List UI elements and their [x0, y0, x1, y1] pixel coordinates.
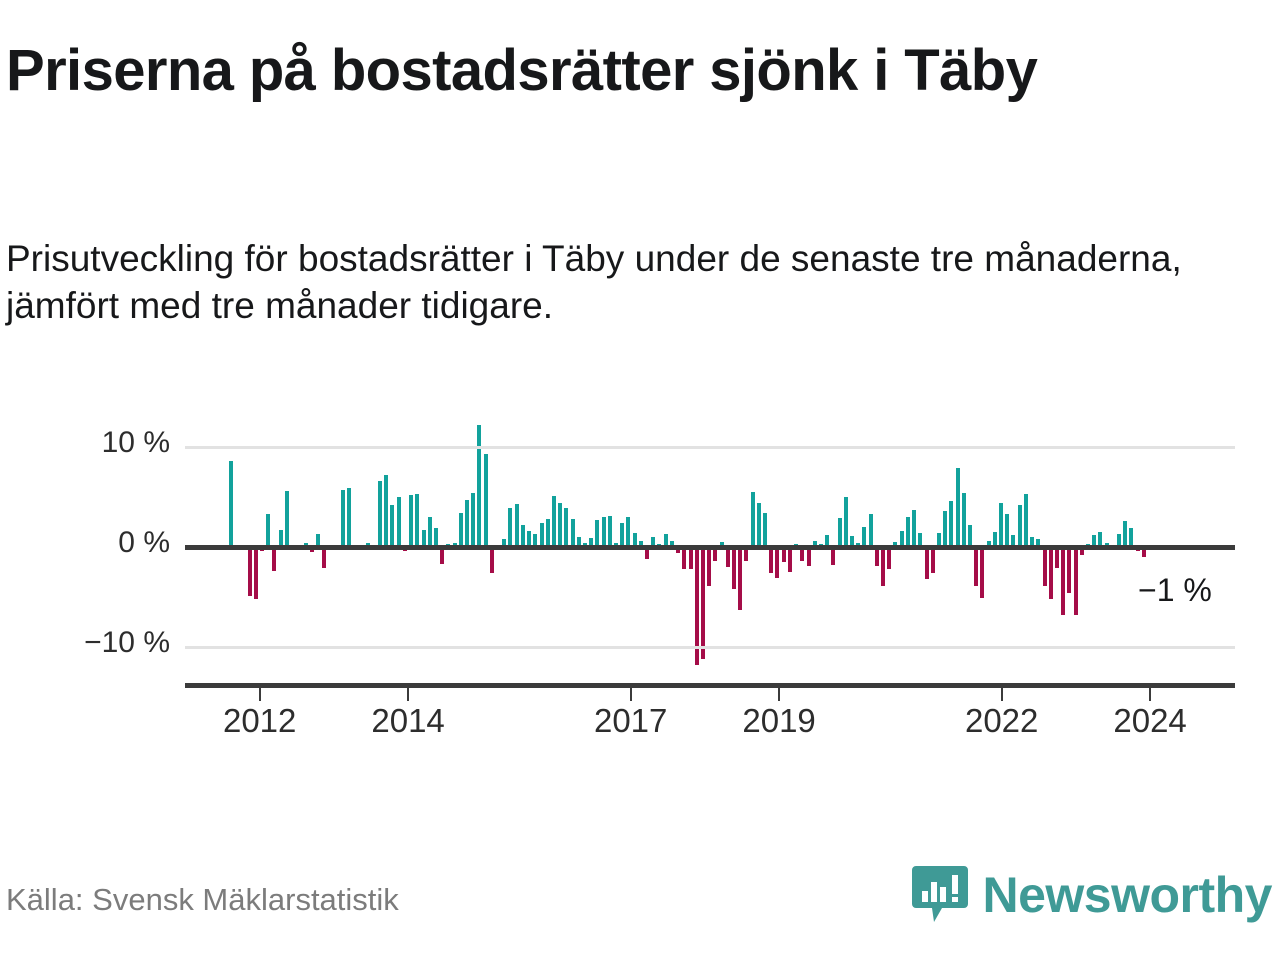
bar	[1049, 547, 1053, 599]
y-axis-label: 0 %	[10, 526, 170, 560]
bar	[521, 525, 525, 547]
bar	[738, 547, 742, 610]
last-value-annotation: −1 %	[1138, 572, 1212, 609]
x-axis-label: 2019	[742, 702, 815, 740]
bar	[552, 496, 556, 547]
bar	[322, 547, 326, 568]
bar	[1067, 547, 1071, 593]
bar	[757, 503, 761, 547]
source-note: Källa: Svensk Mäklarstatistik	[6, 882, 399, 918]
bar	[285, 491, 289, 547]
bar	[540, 523, 544, 547]
bar	[272, 547, 276, 571]
bar	[962, 493, 966, 547]
bar-series	[185, 430, 1235, 680]
gridline	[185, 646, 1235, 649]
bar	[707, 547, 711, 586]
x-axis-label: 2024	[1113, 702, 1186, 740]
bar	[775, 547, 779, 578]
bar	[838, 518, 842, 547]
bar	[1123, 521, 1127, 547]
bar	[732, 547, 736, 589]
bar	[477, 425, 481, 547]
bar	[347, 488, 351, 547]
x-axis-label: 2022	[965, 702, 1038, 740]
bar	[248, 547, 252, 596]
x-axis-tick	[259, 688, 261, 701]
bar	[887, 547, 891, 569]
y-axis-label: −10 %	[10, 626, 170, 660]
bar	[943, 511, 947, 547]
bar	[571, 519, 575, 547]
x-axis-tick	[1001, 688, 1003, 701]
bar	[968, 525, 972, 547]
x-axis-tick	[778, 688, 780, 701]
bar	[925, 547, 929, 579]
bar	[397, 497, 401, 547]
brand-name: Newsworthy	[982, 870, 1272, 920]
bar	[906, 517, 910, 547]
bar	[862, 527, 866, 547]
bar	[626, 517, 630, 547]
bar	[788, 547, 792, 572]
zero-line	[185, 545, 1235, 550]
bar	[465, 500, 469, 547]
bar	[471, 493, 475, 547]
bar	[689, 547, 693, 569]
brand-logo: Newsworthy	[912, 864, 1272, 926]
bar	[490, 547, 494, 573]
bar	[1024, 494, 1028, 547]
bar	[869, 514, 873, 547]
bar	[415, 494, 419, 547]
bar	[384, 475, 388, 547]
plot-area	[185, 430, 1235, 680]
x-axis-label: 2014	[371, 702, 444, 740]
bar	[546, 519, 550, 547]
bar-chart: 10 %0 %−10 %201220142017201920222024 −1 …	[0, 400, 1280, 760]
bar	[1043, 547, 1047, 586]
bar	[1055, 547, 1059, 568]
bar	[508, 508, 512, 547]
bar	[564, 508, 568, 547]
bar	[881, 547, 885, 586]
bar	[558, 503, 562, 547]
bar	[980, 547, 984, 598]
bar	[1074, 547, 1078, 615]
bar	[608, 516, 612, 547]
bar	[378, 481, 382, 547]
bar	[682, 547, 686, 569]
bar	[931, 547, 935, 573]
bar	[1061, 547, 1065, 615]
bar	[266, 514, 270, 547]
x-axis-tick	[630, 688, 632, 701]
x-axis-line	[185, 683, 1235, 688]
bar	[1005, 514, 1009, 547]
x-axis-label: 2017	[594, 702, 667, 740]
bar	[751, 492, 755, 547]
bar	[428, 517, 432, 547]
bar	[459, 513, 463, 547]
y-axis-label: 10 %	[10, 426, 170, 460]
newsworthy-mark-icon	[912, 864, 968, 926]
bar	[254, 547, 258, 599]
bar	[595, 520, 599, 547]
bar	[602, 517, 606, 547]
bar	[999, 503, 1003, 547]
page-title: Priserna på bostadsrätter sjönk i Täby	[6, 36, 1186, 107]
bar	[769, 547, 773, 573]
bar	[844, 497, 848, 547]
x-axis-label: 2012	[223, 702, 296, 740]
bar	[229, 461, 233, 547]
bar	[974, 547, 978, 586]
bar	[1018, 505, 1022, 547]
bar	[515, 504, 519, 547]
bar	[409, 495, 413, 547]
bar	[912, 510, 916, 547]
bar	[956, 468, 960, 547]
bar	[763, 513, 767, 547]
bar	[484, 454, 488, 547]
bar	[390, 505, 394, 547]
bar	[726, 547, 730, 567]
page-subtitle: Prisutveckling för bostadsrätter i Täby …	[6, 236, 1251, 329]
bar	[949, 501, 953, 547]
x-axis-tick	[407, 688, 409, 701]
bar	[701, 547, 705, 659]
gridline	[185, 446, 1235, 449]
bar	[341, 490, 345, 547]
x-axis-tick	[1149, 688, 1151, 701]
bar	[620, 523, 624, 547]
